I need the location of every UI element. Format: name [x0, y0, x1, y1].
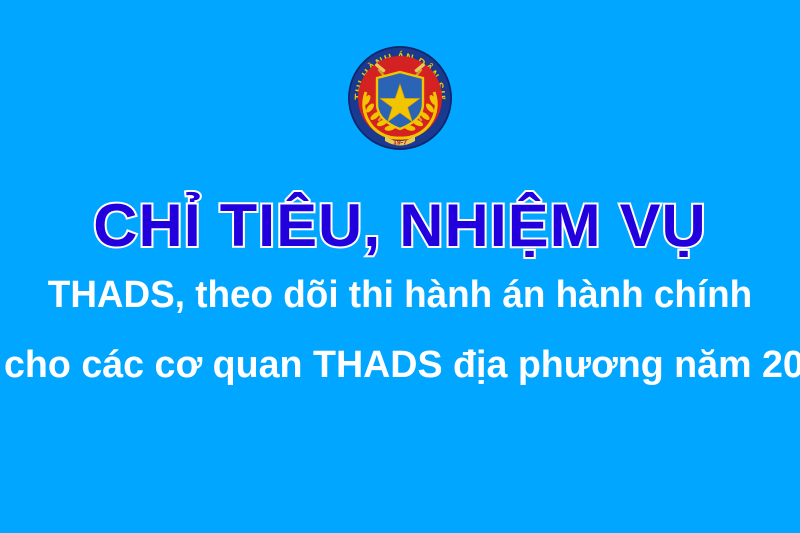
subtitle-line-1: THADS, theo dõi thi hành án hành chính [12, 276, 788, 314]
poster-text-block: CHỈ TIÊU, NHIỆM VỤ THADS, theo dõi thi h… [0, 196, 800, 384]
page-title: CHỈ TIÊU, NHIỆM VỤ [0, 196, 800, 256]
emblem-svg: THI HÀNH ÁN DÂN SỰ [346, 44, 454, 152]
subtitle-line-2: cho các cơ quan THADS địa phương năm 202… [4, 346, 796, 384]
emblem-banner-text: 19-7 [393, 140, 407, 147]
thads-national-emblem: THI HÀNH ÁN DÂN SỰ [346, 44, 454, 152]
emblem-container: THI HÀNH ÁN DÂN SỰ [0, 44, 800, 152]
banner-poster: THI HÀNH ÁN DÂN SỰ [0, 0, 800, 533]
